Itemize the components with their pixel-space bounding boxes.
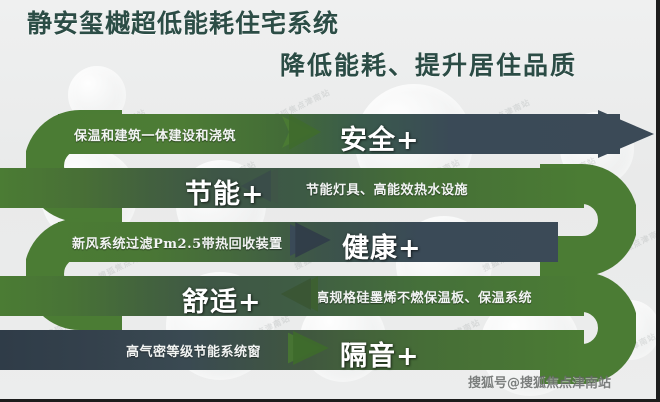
flow-terminal-arrow xyxy=(598,102,656,166)
flow-outcome-4: 舒适+ xyxy=(182,280,262,319)
flow-outcome-2: 节能+ xyxy=(185,172,265,211)
page-title: 静安玺樾超低能耗住宅系统 xyxy=(27,4,339,40)
serpentine-flow-diagram: 保温和建筑一体建设和浇筑 安全+ 节能灯具、高能效热水设施 节能+ 新风系统过滤… xyxy=(0,96,660,396)
watermark-main: 搜狐号@搜狐焦点津南站 xyxy=(468,372,611,391)
flow-row-2: 节能灯具、高能效热水设施 xyxy=(0,168,584,208)
flow-row-5-detail: 高气密等级节能系统窗 xyxy=(126,341,261,360)
screenshot-canvas: 搜狐焦点津南站 搜狐焦点津南站 搜狐焦点津南站 搜狐焦点津南站 搜狐焦点津南站 … xyxy=(0,0,660,402)
flow-row-4-detail: 高规格硅墨烯不燃保温板、保温系统 xyxy=(316,287,532,306)
flow-outcome-1: 安全+ xyxy=(340,118,420,157)
flow-row-1-detail: 保温和建筑一体建设和浇筑 xyxy=(74,125,236,144)
flow-row-2-detail: 节能灯具、高能效热水设施 xyxy=(306,179,468,198)
flow-row-1: 保温和建筑一体建设和浇筑 xyxy=(58,114,620,154)
flow-arrowhead-row-4 xyxy=(272,274,318,314)
frame-edge-right xyxy=(656,0,660,402)
flow-arrowhead-row-5 xyxy=(288,328,334,368)
flow-outcome-3: 健康+ xyxy=(342,226,422,265)
flow-arrowhead-row-1 xyxy=(282,112,328,152)
flow-outcome-5: 隔音+ xyxy=(340,334,420,373)
flow-arrowhead-row-3 xyxy=(290,220,336,260)
page-subtitle: 降低能耗、提升居住品质 xyxy=(280,46,577,82)
flow-row-3-detail: 新风系统过滤Pm2.5带热回收装置 xyxy=(72,233,283,252)
